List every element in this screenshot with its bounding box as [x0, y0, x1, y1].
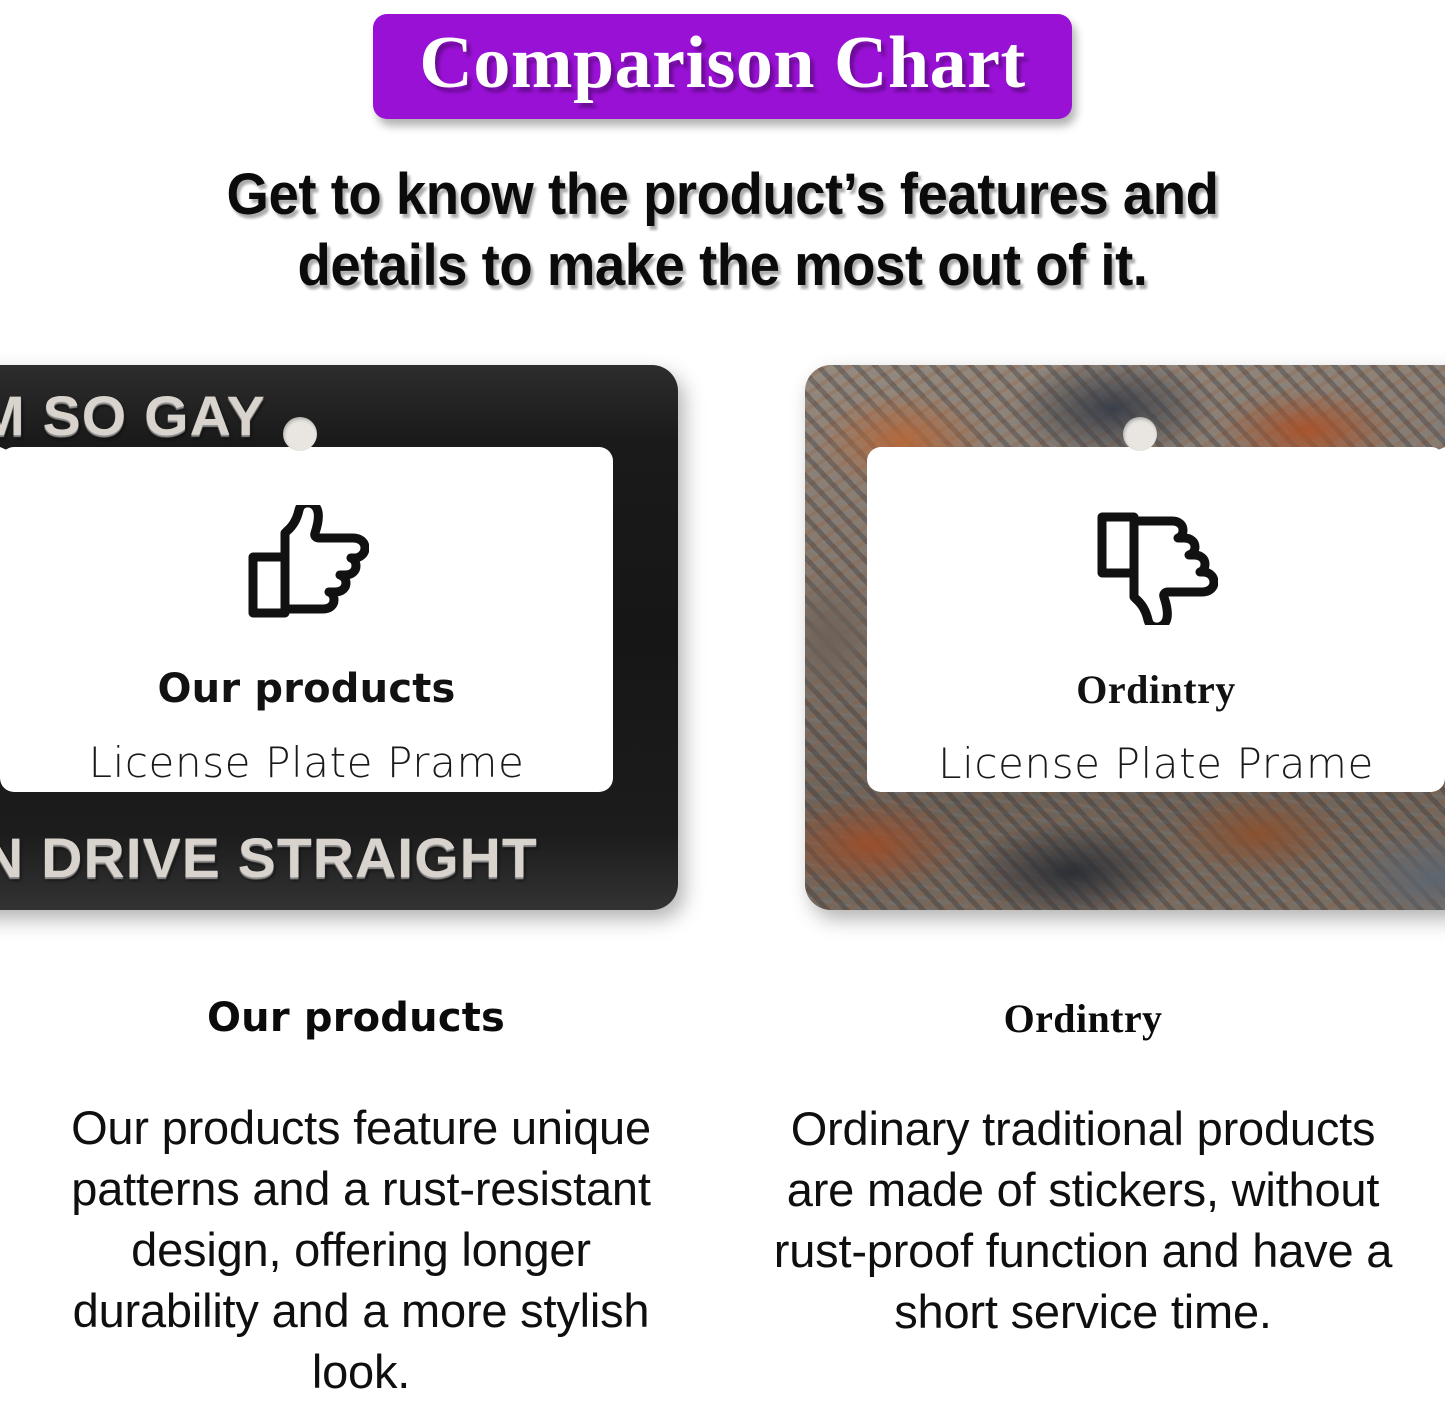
plate-window-subtitle-ours: License Plate Prame — [0, 738, 613, 787]
description-column-ordinary: Ordintry Ordinary traditional products a… — [722, 995, 1444, 1402]
description-heading-ours: Our products — [0, 995, 717, 1041]
subtitle-line-1: Get to know the product’s features and — [43, 160, 1401, 231]
description-body-ordinary: Ordinary traditional products are made o… — [763, 1098, 1403, 1342]
plate-window-content-ours: Our products License Plate Prame — [0, 505, 613, 787]
subtitle: Get to know the product’s features and d… — [43, 160, 1401, 302]
title-banner: Comparison Chart — [373, 14, 1071, 119]
plate-window-title-ordinary: Ordintry — [867, 666, 1445, 713]
plate-slogan-top: M SO GAY — [0, 383, 266, 448]
description-heading-ordinary: Ordintry — [722, 995, 1444, 1042]
mounting-hole-ordinary — [1123, 417, 1157, 451]
product-frame-ours: M SO GAY VEN DRIVE STRAIGHT Our products… — [0, 365, 678, 910]
plate-slogan-bottom: VEN DRIVE STRAIGHT — [0, 825, 538, 890]
subtitle-line-2: details to make the most out of it. — [43, 231, 1401, 302]
thumbs-down-icon — [867, 505, 1445, 630]
description-body-ours: Our products feature unique patterns and… — [51, 1097, 671, 1402]
descriptions-row: Our products Our products feature unique… — [0, 995, 1445, 1402]
plate-window-title-ours: Our products — [0, 666, 613, 712]
thumbs-up-icon — [0, 505, 613, 630]
title-banner-container: Comparison Chart — [0, 14, 1445, 119]
comparison-frames-row: M SO GAY VEN DRIVE STRAIGHT Our products… — [0, 355, 1445, 930]
page-title: Comparison Chart — [419, 20, 1025, 107]
plate-window-content-ordinary: Ordintry License Plate Prame — [867, 505, 1445, 788]
mounting-hole-ours — [283, 417, 317, 451]
plate-window-subtitle-ordinary: License Plate Prame — [867, 739, 1445, 788]
description-column-ours: Our products Our products feature unique… — [0, 995, 722, 1402]
product-frame-ordinary: Ordintry License Plate Prame — [805, 365, 1445, 910]
